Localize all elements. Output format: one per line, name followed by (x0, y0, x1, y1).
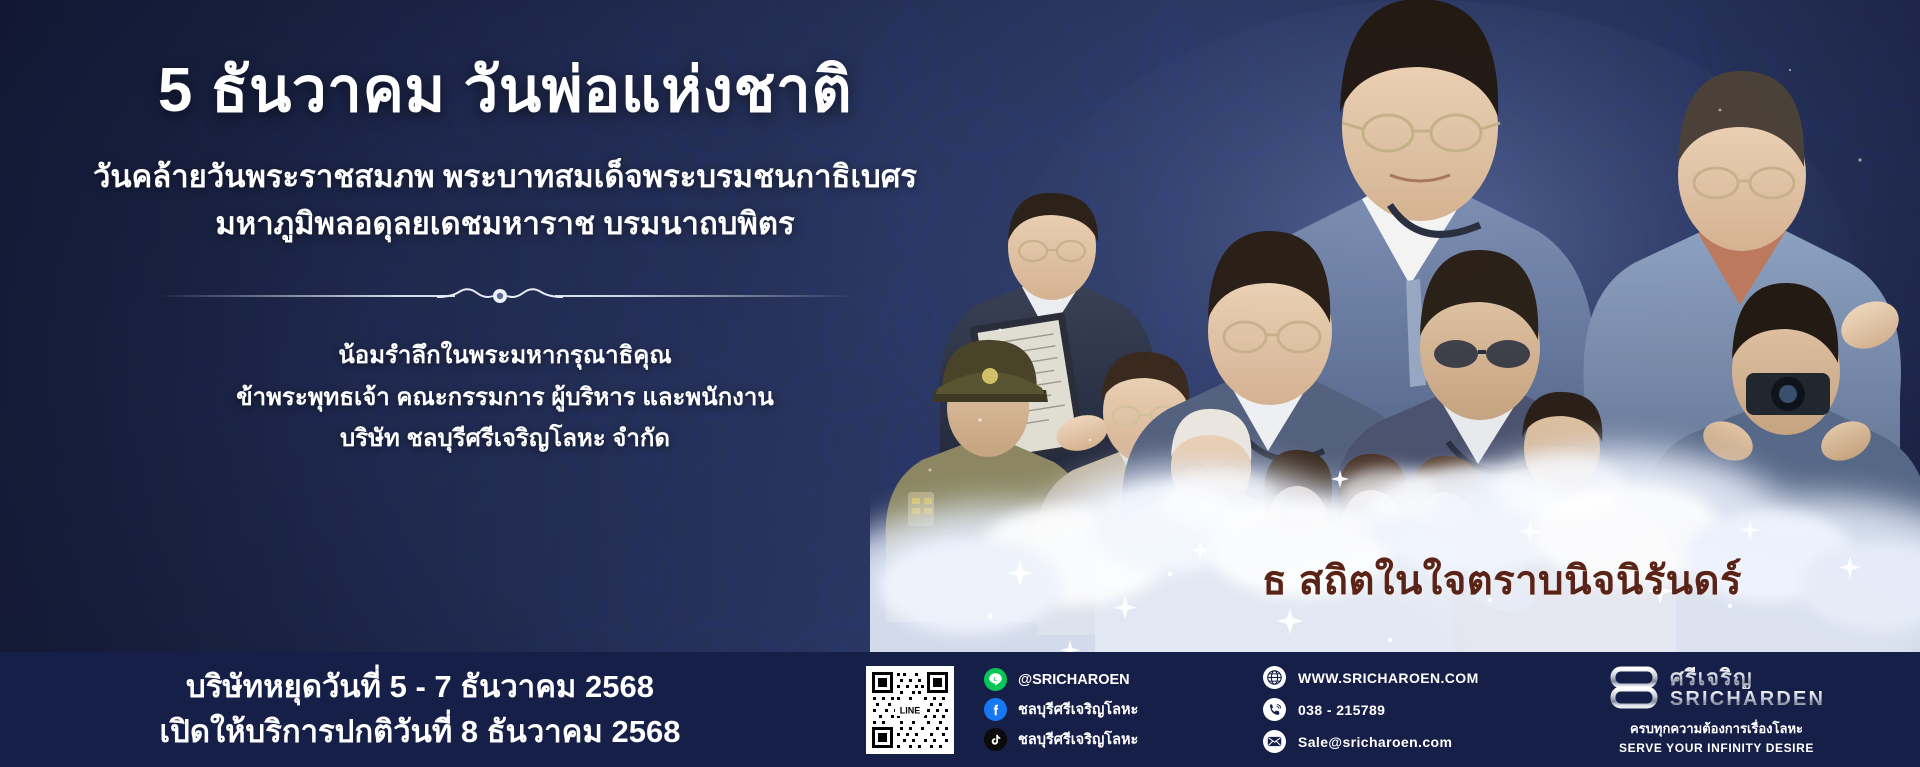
logo-tagline-thai: ครบทุกความต้องการเรื่องโลหะ (1630, 718, 1803, 739)
social-label-tiktok: ชลบุรีศรีเจริญโลหะ (1018, 728, 1138, 751)
tiktok-icon (984, 728, 1007, 751)
social-item-tiktok[interactable]: ชลบุรีศรีเจริญโลหะ (984, 728, 1205, 751)
father-day-banner: 5 ธันวาคม วันพ่อแห่งชาติ วันคล้ายวันพระร… (0, 0, 1920, 767)
holiday-notice: บริษัทหยุดวันที่ 5 - 7 ธันวาคม 2568 เปิด… (0, 665, 850, 753)
facebook-icon (984, 698, 1007, 721)
line-qr-block[interactable]: LINE (850, 666, 970, 754)
memorial-slogan: ธ สถิตในใจตราบนิจนิรันดร์ (1262, 548, 1742, 612)
social-list: L @SRICHAROEN ชลบุรีศรีเจริญโลหะ ชลบุรีศ… (970, 668, 1205, 751)
logo-row: ศรีเจริญ SRICHARDEN (1608, 665, 1825, 711)
holiday-line-2: เปิดให้บริการปกติวันที่ 8 ธันวาคม 2568 (0, 710, 840, 754)
qr-code[interactable]: LINE (866, 666, 954, 754)
tribute-line-2: ข้าพระพุทธเจ้า คณะกรรมการ ผู้บริหาร และพ… (10, 377, 1000, 418)
headline-block: 5 ธันวาคม วันพ่อแห่งชาติ วันคล้ายวันพระร… (0, 54, 1000, 459)
holiday-line-1: บริษัทหยุดวันที่ 5 - 7 ธันวาคม 2568 (0, 665, 840, 709)
page-title: 5 ธันวาคม วันพ่อแห่งชาติ (0, 54, 1000, 127)
contact-item-phone[interactable]: 038 - 215789 (1263, 698, 1535, 721)
line-icon: L (984, 668, 1007, 691)
contact-label-email: Sale@sricharoen.com (1298, 734, 1452, 750)
phone-icon (1263, 698, 1286, 721)
contact-item-website[interactable]: WWW.SRICHAROEN.COM (1263, 666, 1535, 689)
logo-tagline-english: SERVE YOUR INFINITY DESIRE (1619, 741, 1814, 755)
social-item-line[interactable]: L @SRICHAROEN (984, 668, 1205, 691)
globe-icon (1263, 666, 1286, 689)
tribute-block: น้อมรำลึกในพระมหากรุณาธิคุณ ข้าพระพุทธเจ… (0, 335, 1000, 459)
footer-bar: บริษัทหยุดวันที่ 5 - 7 ธันวาคม 2568 เปิด… (0, 652, 1920, 767)
email-icon (1263, 730, 1286, 753)
divider-line-right (555, 295, 855, 297)
infinity-mark-icon (1608, 665, 1660, 711)
company-logo-block[interactable]: ศรีเจริญ SRICHARDEN ครบทุกความต้องการเรื… (1535, 665, 1920, 755)
divider-line-left (155, 295, 455, 297)
svg-text:L: L (994, 677, 997, 683)
logo-words: ศรีเจริญ SRICHARDEN (1670, 667, 1825, 709)
contact-label-phone: 038 - 215789 (1298, 702, 1385, 718)
qr-line-label: LINE (900, 705, 921, 715)
subtitle-line-2: มหาภูมิพลอดุลยเดชมหาราช บรมนาถบพิตร (0, 200, 1000, 247)
contact-item-email[interactable]: Sale@sricharoen.com (1263, 730, 1535, 753)
social-label-facebook: ชลบุรีศรีเจริญโลหะ (1018, 698, 1138, 721)
divider-ornament-icon (435, 283, 565, 309)
logo-thai-name: ศรีเจริญ (1670, 667, 1825, 689)
social-item-facebook[interactable]: ชลบุรีศรีเจริญโลหะ (984, 698, 1205, 721)
tribute-line-3: บริษัท ชลบุรีศรีเจริญโลหะ จำกัด (10, 418, 1000, 459)
logo-latin-name: SRICHARDEN (1670, 689, 1825, 709)
subtitle-line-1: วันคล้ายวันพระราชสมภพ พระบาทสมเด็จพระบรม… (0, 153, 1000, 200)
ornament-divider (145, 283, 855, 309)
contact-list: WWW.SRICHAROEN.COM 038 - 215789 Sale@sri… (1205, 666, 1535, 753)
tribute-line-1: น้อมรำลึกในพระมหากรุณาธิคุณ (10, 335, 1000, 376)
social-label-line: @SRICHAROEN (1018, 672, 1130, 688)
qr-code-icon: LINE (869, 669, 951, 751)
contact-label-website: WWW.SRICHAROEN.COM (1298, 670, 1479, 686)
